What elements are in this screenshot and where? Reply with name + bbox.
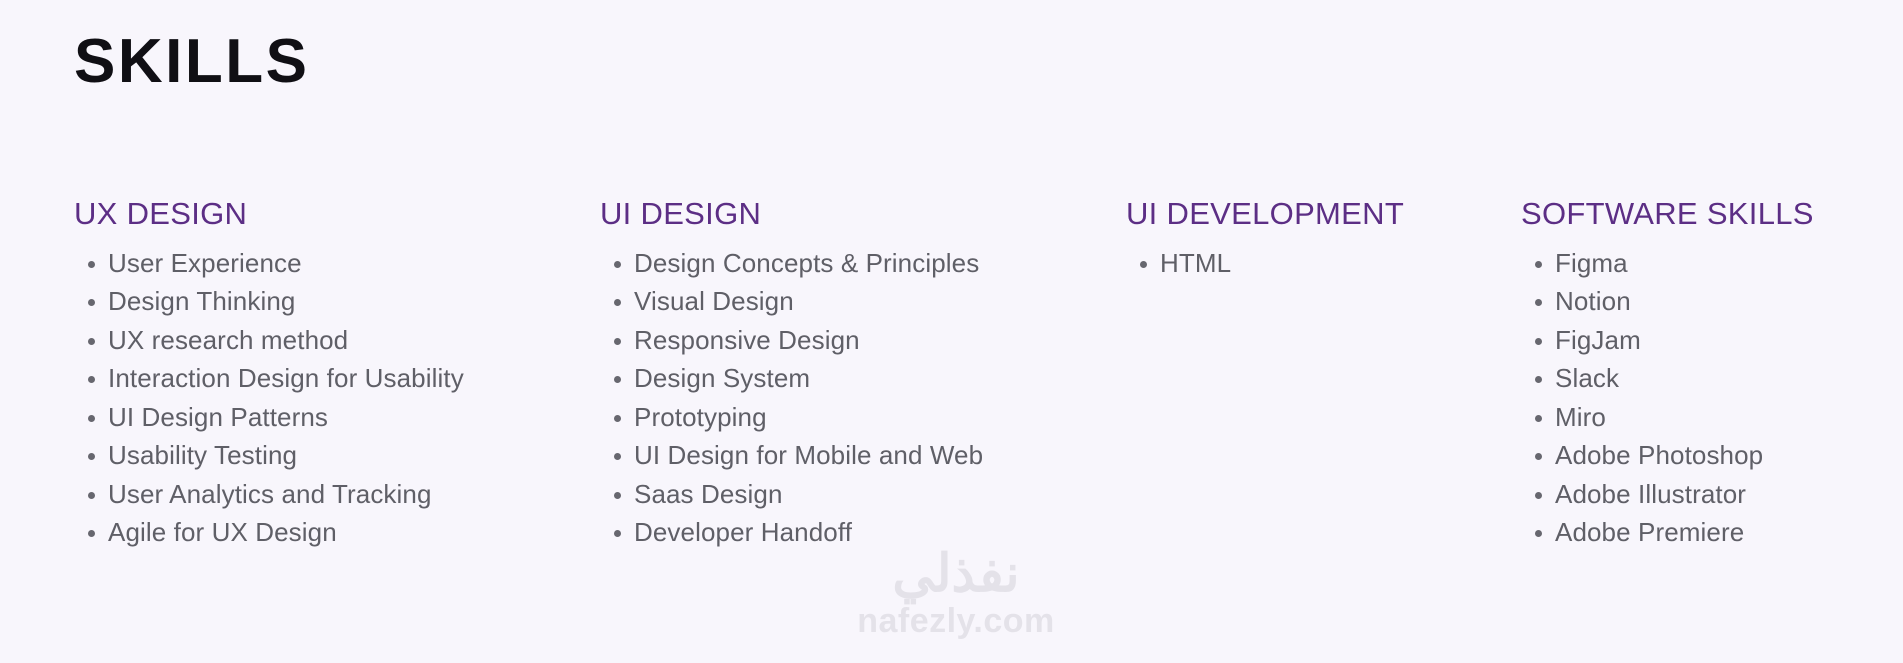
column-heading-software-skills: SOFTWARE SKILLS <box>1521 196 1891 232</box>
list-item: Developer Handoff <box>600 513 1100 552</box>
skills-column-ui-design: UI DESIGN Design Concepts & Principles V… <box>600 196 1100 552</box>
skills-page: SKILLS UX DESIGN User Experience Design … <box>0 0 1903 663</box>
column-heading-ui-design: UI DESIGN <box>600 196 1100 232</box>
skill-list-ui-design: Design Concepts & Principles Visual Desi… <box>600 244 1100 552</box>
list-item: Visual Design <box>600 282 1100 321</box>
list-item: Design System <box>600 359 1100 398</box>
skills-column-ux-design: UX DESIGN User Experience Design Thinkin… <box>74 196 574 552</box>
column-heading-ui-development: UI DEVELOPMENT <box>1126 196 1516 232</box>
list-item: Adobe Premiere <box>1521 513 1891 552</box>
list-item: Responsive Design <box>600 321 1100 360</box>
column-heading-ux-design: UX DESIGN <box>74 196 574 232</box>
skills-column-ui-development: UI DEVELOPMENT HTML <box>1126 196 1516 282</box>
list-item: UX research method <box>74 321 574 360</box>
list-item: Adobe Photoshop <box>1521 436 1891 475</box>
list-item: Prototyping <box>600 398 1100 437</box>
list-item: UI Design for Mobile and Web <box>600 436 1100 475</box>
list-item: Design Thinking <box>74 282 574 321</box>
list-item: Notion <box>1521 282 1891 321</box>
list-item: Adobe Illustrator <box>1521 475 1891 514</box>
skill-list-ux-design: User Experience Design Thinking UX resea… <box>74 244 574 552</box>
watermark: نفذلي nafezly.com <box>836 548 1076 638</box>
list-item: Figma <box>1521 244 1891 283</box>
page-title: SKILLS <box>74 28 309 96</box>
skills-column-software-skills: SOFTWARE SKILLS Figma Notion FigJam Slac… <box>1521 196 1891 552</box>
list-item: User Analytics and Tracking <box>74 475 574 514</box>
list-item: FigJam <box>1521 321 1891 360</box>
list-item: Miro <box>1521 398 1891 437</box>
list-item: Saas Design <box>600 475 1100 514</box>
list-item: Interaction Design for Usability <box>74 359 574 398</box>
list-item: Usability Testing <box>74 436 574 475</box>
list-item: HTML <box>1126 244 1516 283</box>
watermark-domain-text: nafezly.com <box>836 604 1076 638</box>
list-item: Agile for UX Design <box>74 513 574 552</box>
list-item: User Experience <box>74 244 574 283</box>
skill-list-ui-development: HTML <box>1126 244 1516 283</box>
skill-list-software-skills: Figma Notion FigJam Slack Miro Adobe Pho… <box>1521 244 1891 552</box>
list-item: Slack <box>1521 359 1891 398</box>
watermark-arabic-text: نفذلي <box>836 548 1076 600</box>
list-item: UI Design Patterns <box>74 398 574 437</box>
list-item: Design Concepts & Principles <box>600 244 1100 283</box>
